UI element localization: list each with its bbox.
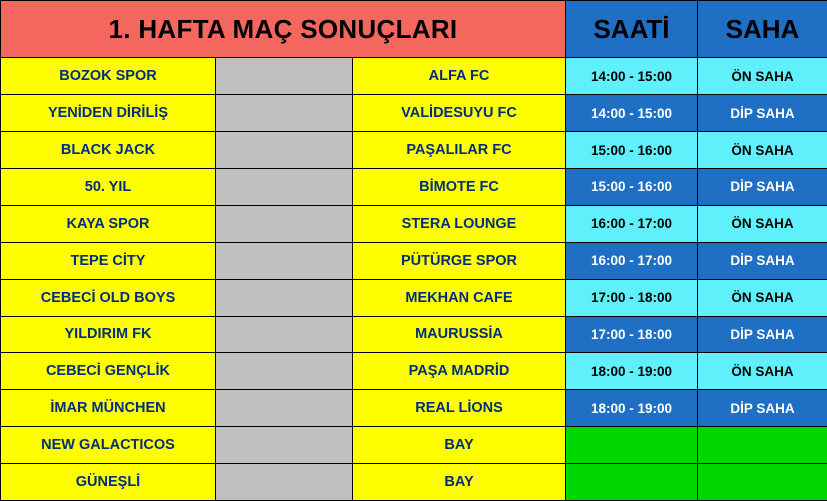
away-team-cell: REAL LİONS: [353, 390, 566, 427]
match-time-cell: 15:00 - 16:00: [566, 169, 698, 206]
home-team-cell: KAYA SPOR: [1, 205, 216, 242]
match-field-cell: ÖN SAHA: [698, 205, 827, 242]
home-team-cell: CEBECİ OLD BOYS: [1, 279, 216, 316]
match-time-cell: 14:00 - 15:00: [566, 95, 698, 132]
away-team-cell: ALFA FC: [353, 58, 566, 95]
table-row: CEBECİ GENÇLİKPAŞA MADRİD18:00 - 19:00ÖN…: [1, 353, 827, 390]
away-team-cell: BAY: [353, 464, 566, 501]
home-team-cell: BOZOK SPOR: [1, 58, 216, 95]
home-team-cell: YILDIRIM FK: [1, 316, 216, 353]
away-team-cell: PAŞA MADRİD: [353, 353, 566, 390]
match-field-cell: ÖN SAHA: [698, 132, 827, 169]
table-row: CEBECİ OLD BOYSMEKHAN CAFE17:00 - 18:00Ö…: [1, 279, 827, 316]
table-row: 50. YILBİMOTE FC15:00 - 16:00DİP SAHA: [1, 169, 827, 206]
page-title: 1. HAFTA MAÇ SONUÇLARI: [1, 1, 566, 58]
away-team-cell: STERA LOUNGE: [353, 205, 566, 242]
score-cell[interactable]: [216, 132, 353, 169]
match-field-cell: [698, 464, 827, 501]
away-team-cell: MEKHAN CAFE: [353, 279, 566, 316]
match-time-cell: 16:00 - 17:00: [566, 242, 698, 279]
match-field-cell: ÖN SAHA: [698, 279, 827, 316]
match-field-cell: DİP SAHA: [698, 242, 827, 279]
score-cell[interactable]: [216, 464, 353, 501]
table-header-row: 1. HAFTA MAÇ SONUÇLARI SAATİ SAHA: [1, 1, 827, 58]
match-field-cell: ÖN SAHA: [698, 58, 827, 95]
away-team-cell: PAŞALILAR FC: [353, 132, 566, 169]
match-time-cell: 14:00 - 15:00: [566, 58, 698, 95]
match-field-cell: DİP SAHA: [698, 390, 827, 427]
score-cell[interactable]: [216, 169, 353, 206]
home-team-cell: CEBECİ GENÇLİK: [1, 353, 216, 390]
match-field-cell: [698, 427, 827, 464]
away-team-cell: PÜTÜRGE SPOR: [353, 242, 566, 279]
column-header-time: SAATİ: [566, 1, 698, 58]
match-field-cell: DİP SAHA: [698, 95, 827, 132]
score-cell[interactable]: [216, 427, 353, 464]
score-cell[interactable]: [216, 279, 353, 316]
match-time-cell: 18:00 - 19:00: [566, 353, 698, 390]
away-team-cell: BİMOTE FC: [353, 169, 566, 206]
match-field-cell: DİP SAHA: [698, 169, 827, 206]
match-time-cell: [566, 464, 698, 501]
table-row: KAYA SPORSTERA LOUNGE16:00 - 17:00ÖN SAH…: [1, 205, 827, 242]
column-header-field: SAHA: [698, 1, 827, 58]
away-team-cell: BAY: [353, 427, 566, 464]
away-team-cell: MAURUSSİA: [353, 316, 566, 353]
score-cell[interactable]: [216, 353, 353, 390]
match-time-cell: 17:00 - 18:00: [566, 279, 698, 316]
table-row: İMAR MÜNCHENREAL LİONS18:00 - 19:00DİP S…: [1, 390, 827, 427]
score-cell[interactable]: [216, 390, 353, 427]
home-team-cell: NEW GALACTICOS: [1, 427, 216, 464]
match-time-cell: 16:00 - 17:00: [566, 205, 698, 242]
table-row: BLACK JACKPAŞALILAR FC15:00 - 16:00ÖN SA…: [1, 132, 827, 169]
score-cell[interactable]: [216, 58, 353, 95]
home-team-cell: YENİDEN DİRİLİŞ: [1, 95, 216, 132]
home-team-cell: BLACK JACK: [1, 132, 216, 169]
table-row: BOZOK SPORALFA FC14:00 - 15:00ÖN SAHA: [1, 58, 827, 95]
match-time-cell: 18:00 - 19:00: [566, 390, 698, 427]
table-row: YILDIRIM FKMAURUSSİA17:00 - 18:00DİP SAH…: [1, 316, 827, 353]
home-team-cell: İMAR MÜNCHEN: [1, 390, 216, 427]
table-row: NEW GALACTICOSBAY: [1, 427, 827, 464]
match-time-cell: 15:00 - 16:00: [566, 132, 698, 169]
table-row: YENİDEN DİRİLİŞVALİDESUYU FC14:00 - 15:0…: [1, 95, 827, 132]
score-cell[interactable]: [216, 316, 353, 353]
score-cell[interactable]: [216, 95, 353, 132]
fixture-table: 1. HAFTA MAÇ SONUÇLARI SAATİ SAHA BOZOK …: [0, 0, 827, 501]
home-team-cell: GÜNEŞLİ: [1, 464, 216, 501]
score-cell[interactable]: [216, 205, 353, 242]
match-time-cell: 17:00 - 18:00: [566, 316, 698, 353]
table-row: TEPE CİTYPÜTÜRGE SPOR16:00 - 17:00DİP SA…: [1, 242, 827, 279]
home-team-cell: TEPE CİTY: [1, 242, 216, 279]
match-time-cell: [566, 427, 698, 464]
away-team-cell: VALİDESUYU FC: [353, 95, 566, 132]
match-field-cell: ÖN SAHA: [698, 353, 827, 390]
score-cell[interactable]: [216, 242, 353, 279]
match-field-cell: DİP SAHA: [698, 316, 827, 353]
table-row: GÜNEŞLİBAY: [1, 464, 827, 501]
home-team-cell: 50. YIL: [1, 169, 216, 206]
